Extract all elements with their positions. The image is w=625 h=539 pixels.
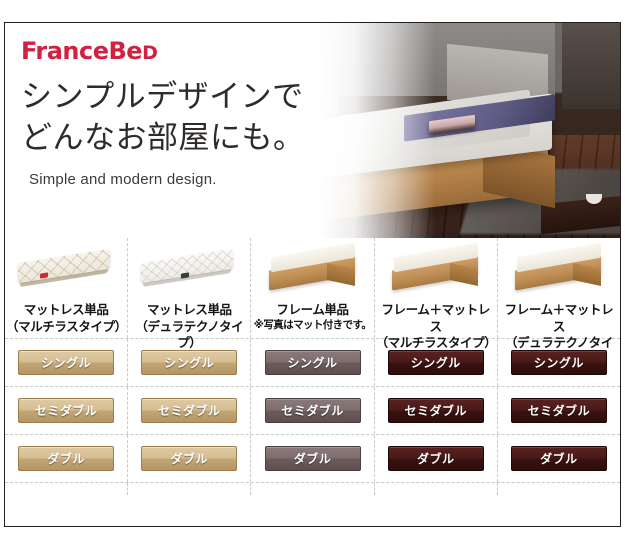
size-cell: ダブル (251, 435, 374, 482)
size-button-frame-mattress-multilas-semi-double[interactable]: セミダブル (388, 398, 484, 423)
size-button-frame-mattress-duratechno-semi-double[interactable]: セミダブル (511, 398, 607, 423)
mattress-icon (141, 254, 237, 288)
product-label-line1: フレーム単品 (252, 302, 372, 319)
size-row-double: ダブル ダブル ダブル ダブル ダブル (5, 434, 620, 482)
logo-text-france: France (21, 37, 108, 65)
size-cell: ダブル (5, 435, 128, 482)
product-column-frame-mattress-multilas: フレーム＋マットレス （マルチラスタイプ） (375, 238, 498, 338)
size-cell: セミダブル (498, 387, 620, 434)
size-cell: セミダブル (375, 387, 498, 434)
product-label: フレーム＋マットレス （マルチラスタイプ） (375, 302, 497, 338)
size-cell: ダブル (498, 435, 620, 482)
hero-headline-line1: シンプルデザインで (21, 77, 345, 118)
grid-bottom-cell (375, 483, 498, 495)
francebed-logo: FranceBeD (21, 39, 345, 63)
size-button-mattress-multilas-single[interactable]: シングル (18, 350, 114, 375)
grid-bottom-row (5, 482, 620, 495)
product-column-frame-mattress-duratechno: フレーム＋マットレス （デュラテクノタイプ） (498, 238, 620, 338)
size-button-frame-only-single[interactable]: シングル (265, 350, 361, 375)
product-thumbnail (251, 240, 373, 302)
content-frame: FranceBeD シンプルデザインで どんなお部屋にも。 Simple and… (4, 22, 621, 527)
size-cell: シングル (128, 339, 251, 386)
bed-frame-icon (388, 250, 484, 292)
product-selection-page: FranceBeD シンプルデザインで どんなお部屋にも。 Simple and… (0, 0, 625, 539)
mattress-icon (18, 254, 114, 288)
size-button-frame-mattress-duratechno-single[interactable]: シングル (511, 350, 607, 375)
size-button-mattress-duratechno-semi-double[interactable]: セミダブル (141, 398, 237, 423)
product-thumbnail (375, 240, 497, 302)
hero-banner: FranceBeD シンプルデザインで どんなお部屋にも。 Simple and… (5, 23, 620, 238)
bed-frame-icon (265, 250, 361, 292)
size-button-frame-mattress-multilas-single[interactable]: シングル (388, 350, 484, 375)
product-column-mattress-duratechno: マットレス単品 （デュラテクノタイプ） (128, 238, 251, 338)
size-button-mattress-multilas-semi-double[interactable]: セミダブル (18, 398, 114, 423)
product-label-line1: マットレス単品 (6, 302, 126, 319)
wall-right (562, 23, 620, 109)
size-cell: セミダブル (251, 387, 374, 434)
logo-text-d: D (142, 42, 157, 64)
size-cell: ダブル (128, 435, 251, 482)
product-label-note: ※写真はマット付きです。 (252, 319, 372, 333)
product-label-line1: フレーム＋マットレス (499, 302, 619, 335)
size-button-frame-mattress-duratechno-double[interactable]: ダブル (511, 446, 607, 471)
size-button-mattress-multilas-double[interactable]: ダブル (18, 446, 114, 471)
grid-bottom-cell (5, 483, 128, 495)
size-cell: シングル (5, 339, 128, 386)
size-cell: シングル (375, 339, 498, 386)
product-label-line1: フレーム＋マットレス (376, 302, 496, 335)
size-cell: シングル (498, 339, 620, 386)
product-label: マットレス単品 （マルチラスタイプ） (5, 302, 127, 338)
product-thumbnail (5, 240, 127, 302)
product-column-frame-only: フレーム単品 ※写真はマット付きです。 (251, 238, 374, 338)
size-button-mattress-duratechno-single[interactable]: シングル (141, 350, 237, 375)
hero-headline-line2: どんなお部屋にも。 (21, 118, 345, 159)
size-row-single: シングル シングル シングル シングル シングル (5, 338, 620, 386)
hero-text-block: FranceBeD シンプルデザインで どんなお部屋にも。 Simple and… (5, 23, 345, 238)
product-thumbnail (128, 240, 250, 302)
grid-bottom-cell (251, 483, 374, 495)
product-label: フレーム単品 ※写真はマット付きです。 (251, 302, 373, 338)
product-label-line2: （マルチラスタイプ） (6, 319, 126, 336)
product-size-grid: マットレス単品 （マルチラスタイプ） マットレス単品 （デュ (5, 238, 620, 495)
grid-bottom-cell (498, 483, 620, 495)
size-cell: セミダブル (128, 387, 251, 434)
product-thumbnail (498, 240, 620, 302)
product-label: マットレス単品 （デュラテクノタイプ） (128, 302, 250, 338)
product-column-mattress-multilas: マットレス単品 （マルチラスタイプ） (5, 238, 128, 338)
size-cell: ダブル (375, 435, 498, 482)
size-button-frame-mattress-multilas-double[interactable]: ダブル (388, 446, 484, 471)
size-cell: セミダブル (5, 387, 128, 434)
size-row-semi-double: セミダブル セミダブル セミダブル セミダブル セミダブル (5, 386, 620, 434)
hero-subheadline: Simple and modern design. (29, 171, 345, 188)
product-header-row: マットレス単品 （マルチラスタイプ） マットレス単品 （デュ (5, 238, 620, 338)
size-cell: シングル (251, 339, 374, 386)
size-button-mattress-duratechno-double[interactable]: ダブル (141, 446, 237, 471)
product-label: フレーム＋マットレス （デュラテクノタイプ） (498, 302, 620, 338)
bed-frame-icon (511, 250, 607, 292)
size-button-frame-only-double[interactable]: ダブル (265, 446, 361, 471)
size-button-frame-only-semi-double[interactable]: セミダブル (265, 398, 361, 423)
logo-text-be: Be (108, 37, 142, 65)
grid-bottom-cell (128, 483, 251, 495)
product-label-line1: マットレス単品 (129, 302, 249, 319)
hero-headline: シンプルデザインで どんなお部屋にも。 (21, 77, 345, 159)
